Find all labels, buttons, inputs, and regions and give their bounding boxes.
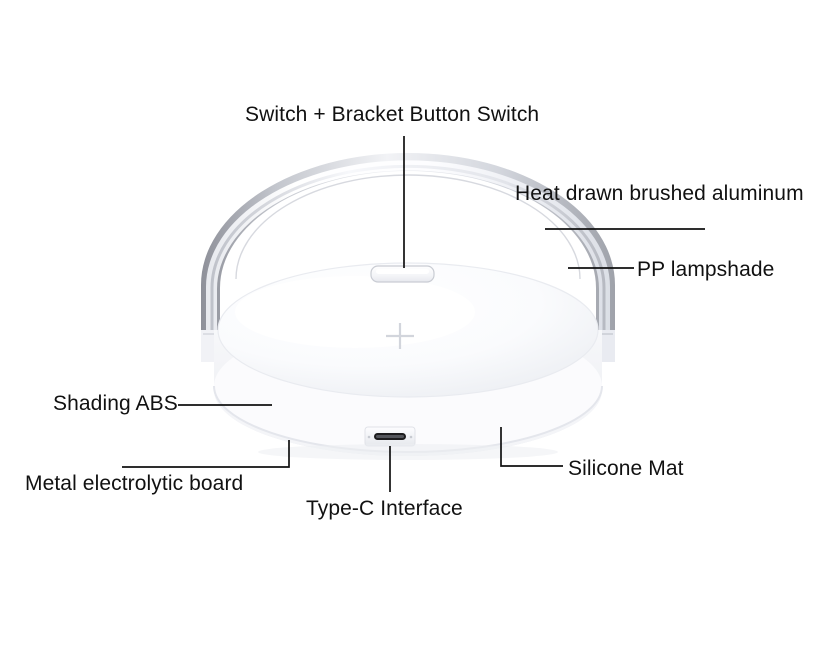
diagram-canvas [0,0,837,659]
callout-label-switch-bracket: Switch + Bracket Button Switch [245,103,539,126]
callout-label-silicone-mat: Silicone Mat [568,457,684,480]
callout-label-shading-abs: Shading ABS [53,392,178,415]
product-callout-diagram: Switch + Bracket Button Switch Heat draw… [0,0,837,659]
bracket-button-switch[interactable] [371,266,434,282]
callout-label-pp-lampshade: PP lampshade [637,258,774,281]
type-c-port [365,427,415,446]
base-contact-shadow [258,444,558,460]
base-top-sheen [235,276,475,348]
round-charging-base [214,263,602,460]
callout-label-metal-board: Metal electrolytic board [25,472,243,495]
callout-label-type-c: Type-C Interface [306,497,463,520]
callout-label-heat-aluminum: Heat drawn brushed aluminum [515,182,804,205]
